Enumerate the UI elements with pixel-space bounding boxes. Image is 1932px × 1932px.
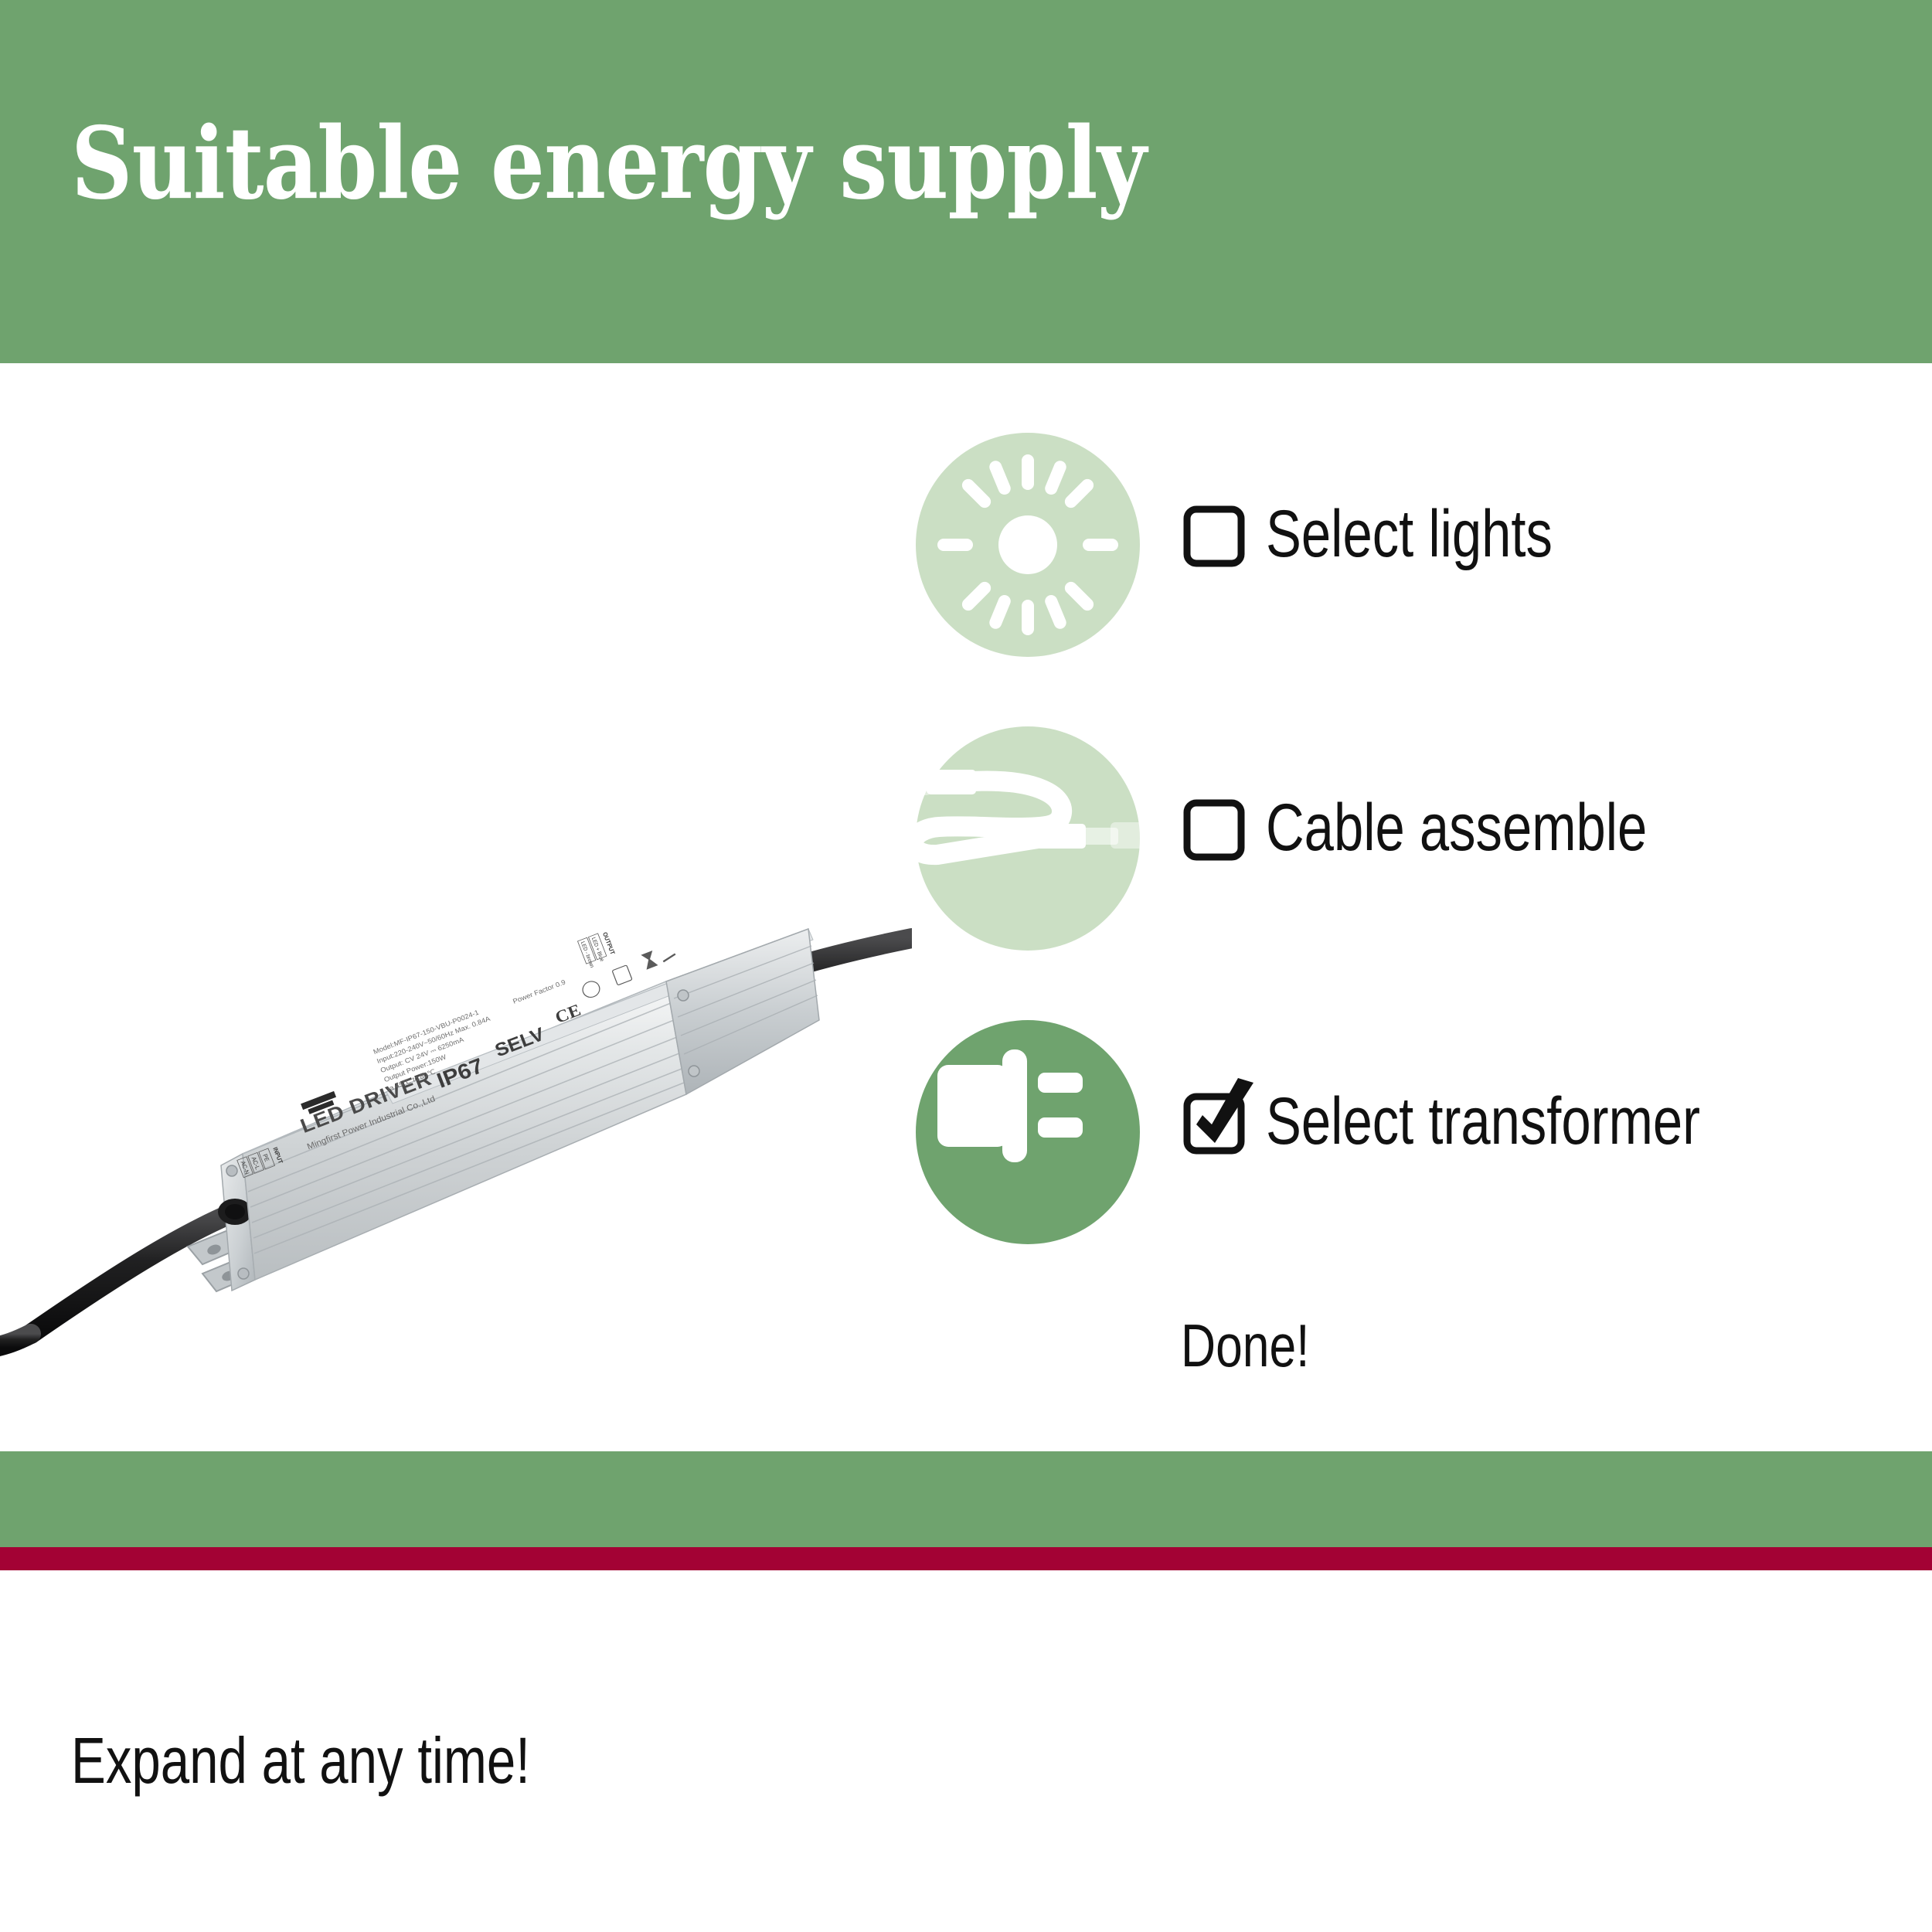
- checkbox-row-content[interactable]: Select transformer: [1182, 1088, 1809, 1155]
- svg-text:LED + Blue: LED + Blue: [590, 937, 605, 962]
- plug-icon: [916, 1020, 1140, 1244]
- done-label: Done!: [1181, 1311, 1310, 1381]
- checklist-row-cable-assemble[interactable]: Cable assemble: [916, 726, 1920, 1020]
- main-content: INPUT PE AC-L AC-N LED DRIVER Mingfirst …: [0, 363, 1932, 1451]
- footer-caption: Expand at any time!: [71, 1723, 530, 1798]
- checkbox-select-transformer[interactable]: [1182, 1094, 1238, 1149]
- cable-icon: [916, 726, 1140, 951]
- product-image-led-driver: INPUT PE AC-L AC-N LED DRIVER Mingfirst …: [0, 904, 912, 1445]
- checkbox-select-lights[interactable]: [1182, 506, 1238, 562]
- checklist-label: Cable assemble: [1266, 794, 1647, 861]
- header-band: Suitable energy supply: [0, 0, 1932, 363]
- svg-text:OUTPUT: OUTPUT: [601, 931, 617, 956]
- svg-text:LED - brown: LED - brown: [580, 940, 595, 968]
- checklist: Select lights: [916, 433, 1920, 1314]
- checkbox-row-content[interactable]: Select lights: [1182, 501, 1624, 567]
- checkbox-row-content[interactable]: Cable assemble: [1182, 794, 1743, 861]
- checklist-label: Select lights: [1266, 501, 1553, 567]
- svg-text:Power Factor 0.9: Power Factor 0.9: [512, 978, 566, 1005]
- page-title: Suitable energy supply: [71, 114, 1146, 213]
- checklist-row-select-transformer[interactable]: Select transformer: [916, 1020, 1920, 1314]
- red-divider-band: [0, 1547, 1932, 1570]
- checklist-label: Select transformer: [1266, 1088, 1700, 1155]
- checklist-row-select-lights[interactable]: Select lights: [916, 433, 1920, 726]
- sun-icon: [916, 433, 1140, 657]
- checkbox-cable-assemble[interactable]: [1182, 800, 1238, 855]
- green-divider-band: [0, 1451, 1932, 1547]
